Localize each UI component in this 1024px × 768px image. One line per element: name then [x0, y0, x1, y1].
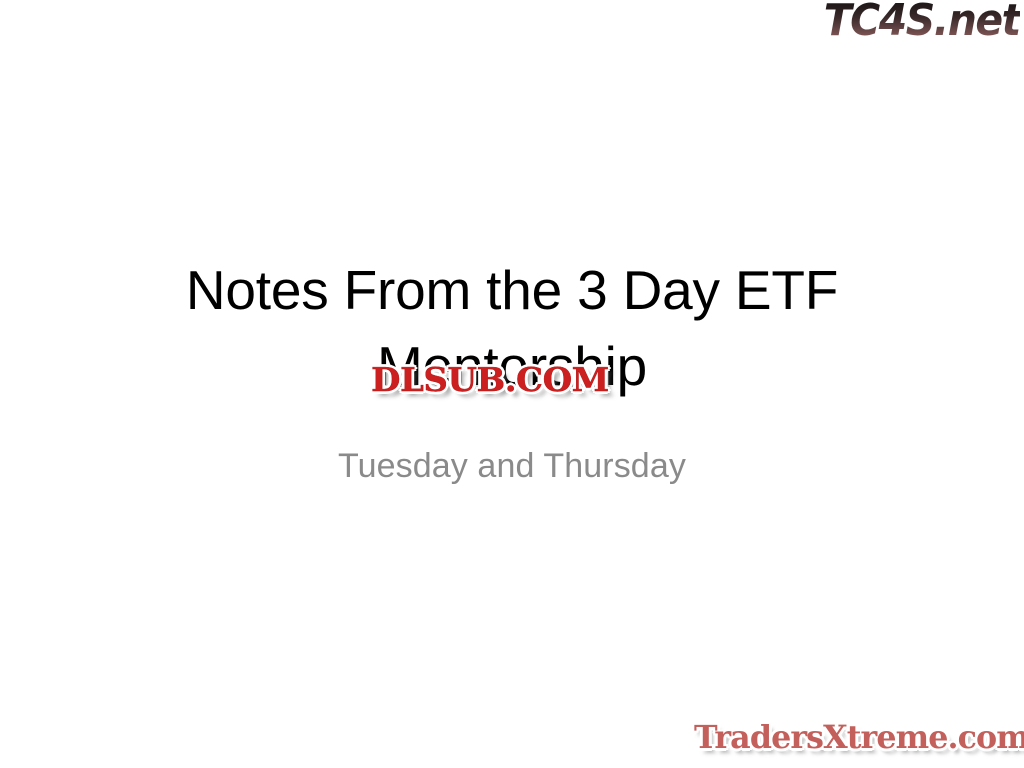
page-subtitle: Tuesday and Thursday	[0, 444, 1024, 488]
tc4s-watermark-logo: TC4S.net	[824, 0, 1020, 45]
presentation-slide: TC4S.net Notes From the 3 Day ETF Mentor…	[0, 0, 1024, 768]
tradersxtreme-watermark-logo: TradersXtreme.com	[694, 717, 1024, 757]
dlsub-watermark-logo: DLSUB.COM	[371, 360, 609, 400]
subtitle-placeholder: Tuesday and Thursday	[0, 444, 1024, 488]
